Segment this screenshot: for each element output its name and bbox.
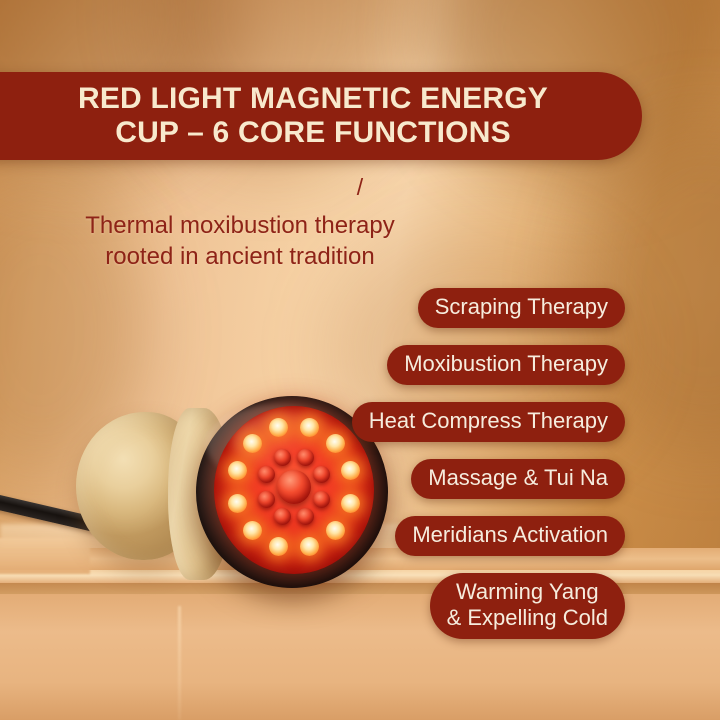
feature-pill: Meridians Activation (395, 516, 625, 556)
feature-pill: Moxibustion Therapy (387, 345, 625, 385)
subtitle-text: Thermal moxibustion therapy rooted in an… (0, 210, 480, 272)
feature-pill: Warming Yang & Expelling Cold (430, 573, 625, 639)
feature-pill: Heat Compress Therapy (352, 402, 625, 442)
slash-divider: / (0, 176, 720, 199)
banner-title: RED LIGHT MAGNETIC ENERGY CUP – 6 CORE F… (56, 82, 560, 149)
header-banner: RED LIGHT MAGNETIC ENERGY CUP – 6 CORE F… (0, 72, 642, 160)
feature-pill: Massage & Tui Na (411, 459, 625, 499)
feature-pill: Scraping Therapy (418, 288, 625, 328)
product-banner-image: RED LIGHT MAGNETIC ENERGY CUP – 6 CORE F… (0, 0, 720, 720)
feature-pill-list: Scraping TherapyMoxibustion TherapyHeat … (0, 288, 625, 639)
